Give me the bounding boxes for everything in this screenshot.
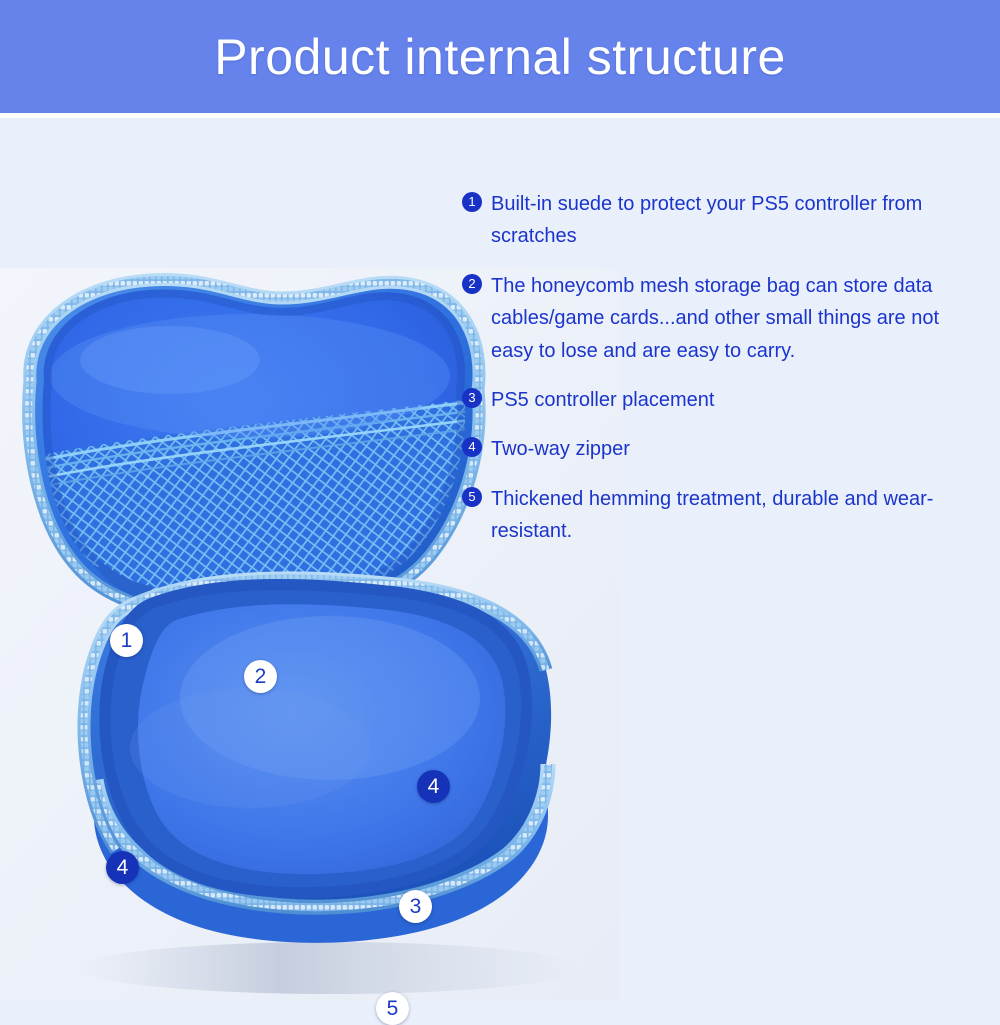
feature-number-badge: 1 — [462, 192, 482, 212]
feature-number-badge: 3 — [462, 388, 482, 408]
base-suede-highlight-2 — [130, 688, 370, 808]
feature-text: Thickened hemming treatment, durable and… — [491, 483, 982, 548]
feature-item-5: 5 Thickened hemming treatment, durable a… — [462, 483, 982, 548]
zipper-callout-right: 4 — [417, 770, 450, 803]
case-base — [84, 578, 551, 943]
callout-number: 1 — [121, 630, 133, 651]
feature-text: Two-way zipper — [491, 433, 982, 465]
feature-text: PS5 controller placement — [491, 384, 982, 416]
feature-text: The honeycomb mesh storage bag can store… — [491, 270, 982, 367]
callout-number: 4 — [117, 857, 129, 878]
mesh-pocket-callout: 2 — [244, 660, 277, 693]
controller-compartment-callout: 3 — [399, 890, 432, 923]
page-content: 1 2 3 4 4 5 1 Built-in suede to protect … — [0, 118, 1000, 1000]
suede-lining-callout: 1 — [110, 624, 143, 657]
feature-item-2: 2 The honeycomb mesh storage bag can sto… — [462, 270, 982, 367]
feature-item-1: 1 Built-in suede to protect your PS5 con… — [462, 188, 982, 253]
callout-number: 2 — [255, 666, 267, 687]
product-infographic-page: Product internal structure — [0, 0, 1000, 1000]
lid-suede-highlight-2 — [80, 326, 260, 394]
feature-list: 1 Built-in suede to protect your PS5 con… — [462, 188, 982, 565]
page-header-band: Product internal structure — [0, 0, 1000, 113]
page-title: Product internal structure — [214, 32, 786, 82]
callout-number: 4 — [428, 776, 440, 797]
callout-number: 3 — [410, 896, 422, 917]
feature-item-4: 4 Two-way zipper — [462, 433, 982, 465]
drop-shadow — [80, 942, 580, 994]
feature-number-badge: 4 — [462, 437, 482, 457]
hemming-callout: 5 — [376, 992, 409, 1025]
zipper-callout-left: 4 — [106, 851, 139, 884]
callout-number: 5 — [387, 998, 399, 1019]
feature-item-3: 3 PS5 controller placement — [462, 384, 982, 416]
feature-number-badge: 2 — [462, 274, 482, 294]
feature-number-badge: 5 — [462, 487, 482, 507]
feature-text: Built-in suede to protect your PS5 contr… — [491, 188, 982, 253]
